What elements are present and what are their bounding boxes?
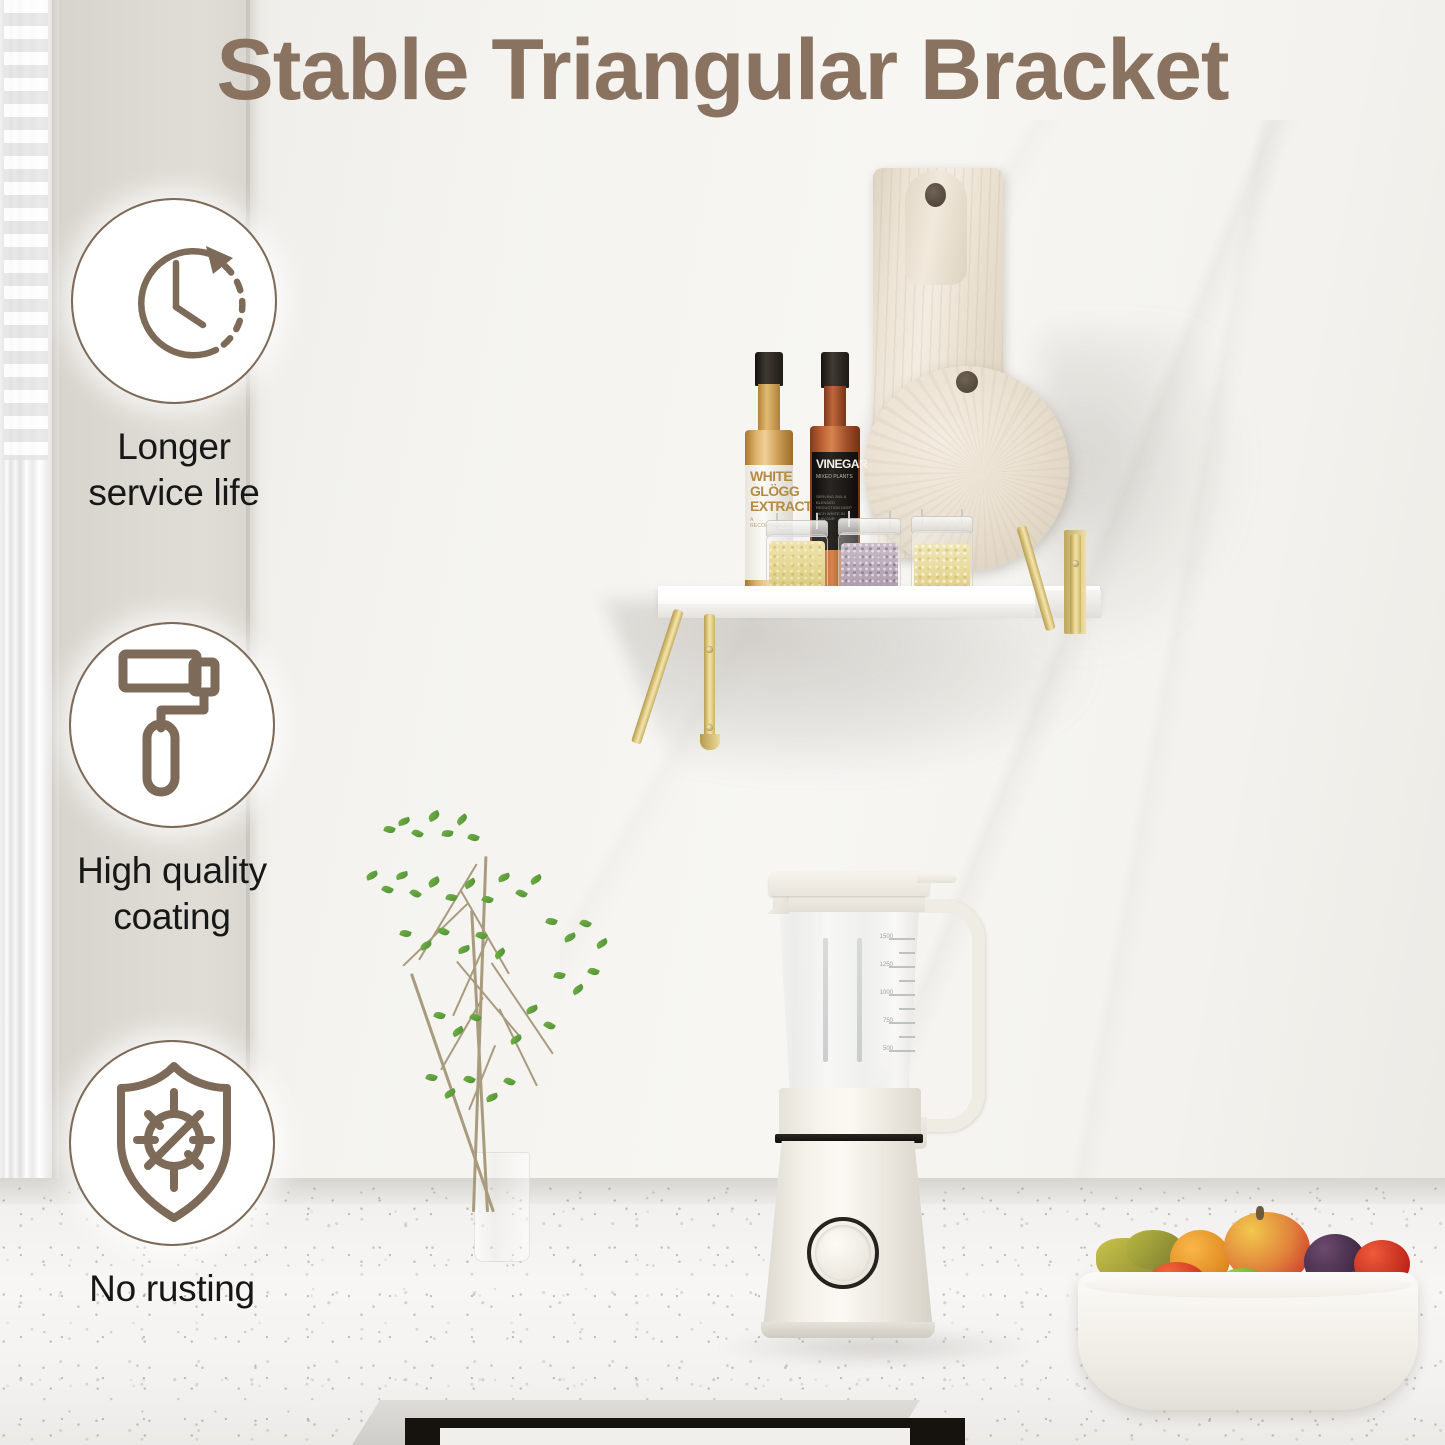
plant-leaf bbox=[545, 916, 558, 927]
plant-leaf bbox=[595, 938, 609, 950]
plant-twig bbox=[402, 903, 468, 967]
blender-mark-label: 1500 bbox=[880, 934, 893, 940]
plant-leaf bbox=[503, 1076, 516, 1088]
plant-leaf bbox=[587, 966, 600, 977]
bracket-foot bbox=[700, 734, 720, 750]
plant-leaf bbox=[525, 1004, 539, 1014]
plant-leaf bbox=[515, 888, 528, 900]
plant-leaf bbox=[543, 1020, 556, 1032]
glogg-label-line3: EXTRACT bbox=[750, 499, 794, 514]
bracket-vertical-arm bbox=[1070, 534, 1081, 634]
blender-measurement-markings: 1500 1250 1000 750 500 bbox=[863, 934, 915, 1064]
plant-leaf bbox=[427, 876, 441, 888]
feature-label-line1: No rusting bbox=[22, 1266, 322, 1312]
shelf-board-front bbox=[658, 604, 1100, 618]
feature-label-line2: service life bbox=[24, 470, 324, 516]
branch-in-glass-vase bbox=[340, 790, 700, 1210]
bracket-screw bbox=[1072, 560, 1079, 567]
round-board-hang-hole bbox=[956, 371, 978, 393]
plant-leaf bbox=[427, 810, 441, 823]
plant-leaf bbox=[563, 932, 577, 943]
feature-high-quality-coating: High quality coating bbox=[22, 622, 322, 940]
plant-leaf bbox=[365, 870, 379, 881]
vinegar-label-title: VINEGAR bbox=[816, 457, 856, 471]
bracket-screw-top bbox=[706, 646, 713, 653]
shield-no-rust-icon bbox=[71, 1042, 277, 1248]
countertop-blender: 1500 1250 1000 750 500 bbox=[757, 872, 993, 1362]
plant-leaf bbox=[399, 928, 412, 938]
feature-icon-circle bbox=[69, 1040, 275, 1246]
blender-lid-tab bbox=[917, 874, 957, 883]
plant-leaf bbox=[409, 887, 422, 899]
plant-leaf bbox=[397, 817, 410, 827]
fruit-bowl-rim bbox=[1084, 1272, 1412, 1298]
plant-leaf bbox=[529, 874, 543, 886]
plant-leaf bbox=[441, 829, 453, 838]
feature-label-line1: High quality bbox=[22, 848, 322, 894]
plant-leaf bbox=[381, 884, 394, 896]
plant-leaf bbox=[433, 1010, 446, 1021]
plant-leaf bbox=[451, 1026, 465, 1038]
blender-foot bbox=[761, 1322, 935, 1338]
plant-leaf bbox=[445, 892, 458, 902]
cutting-board-hang-hole bbox=[925, 183, 946, 207]
fruit-mango-stem bbox=[1256, 1206, 1264, 1220]
page-title: Stable Triangular Bracket bbox=[0, 22, 1445, 118]
plant-twig bbox=[498, 1008, 537, 1086]
blender-mark-label: 750 bbox=[883, 1018, 893, 1024]
feature-label: High quality coating bbox=[22, 848, 322, 940]
bracket-screw-bottom bbox=[706, 724, 713, 731]
glogg-label-line1: WHITE bbox=[750, 469, 794, 484]
plant-leaf bbox=[383, 824, 396, 835]
bottle-cap bbox=[821, 352, 849, 388]
plant-leaf bbox=[457, 945, 470, 955]
blender-mark-label: 1250 bbox=[880, 962, 893, 968]
plant-leaf bbox=[437, 926, 450, 938]
bottle-cap bbox=[755, 352, 783, 386]
plant-leaf bbox=[553, 970, 566, 980]
window-blind bbox=[0, 0, 56, 1215]
feature-longer-service-life: Longer service life bbox=[24, 198, 324, 516]
plant-leaf bbox=[425, 1072, 438, 1083]
plant-leaf bbox=[497, 872, 510, 882]
feature-label-line1: Longer bbox=[24, 424, 324, 470]
glogg-label-line2: GLÖGG bbox=[750, 484, 794, 499]
plant-leaf bbox=[467, 832, 480, 843]
feature-label: Longer service life bbox=[24, 424, 324, 516]
product-feature-poster: WHITE GLÖGG EXTRACT A RECOMMENDED VINEGA… bbox=[0, 0, 1445, 1445]
plant-leaf bbox=[395, 871, 408, 880]
blender-mark-label: 500 bbox=[883, 1046, 893, 1052]
blender-jug-collar bbox=[779, 1088, 921, 1136]
plant-leaf bbox=[571, 983, 585, 995]
plant-leaf bbox=[455, 813, 469, 826]
vinegar-label-sub: MIXED PLANTS bbox=[816, 474, 856, 480]
feature-label: No rusting bbox=[22, 1266, 322, 1312]
bottle-neck bbox=[758, 384, 780, 436]
plant-leaf bbox=[411, 828, 424, 840]
blender-lid bbox=[769, 872, 929, 896]
plant-leaf bbox=[485, 1092, 498, 1102]
feature-icon-circle bbox=[71, 198, 277, 404]
blender-blade-right bbox=[857, 938, 862, 1062]
plant-leaf bbox=[579, 918, 592, 930]
clock-arrow-icon bbox=[73, 200, 279, 406]
blender-mark-label: 1000 bbox=[880, 990, 893, 996]
blender-blade-left bbox=[823, 938, 828, 1062]
plant-leaf bbox=[463, 1074, 476, 1085]
feature-icon-circle bbox=[69, 622, 275, 828]
feature-no-rusting: No rusting bbox=[22, 1040, 322, 1312]
paint-roller-icon bbox=[71, 624, 277, 830]
cabinet-front-panel bbox=[440, 1428, 910, 1445]
bracket-vertical-arm bbox=[704, 614, 715, 742]
fruit-bowl bbox=[1078, 1200, 1445, 1430]
feature-label-line2: coating bbox=[22, 894, 322, 940]
blender-control-knob-face[interactable] bbox=[815, 1225, 871, 1281]
